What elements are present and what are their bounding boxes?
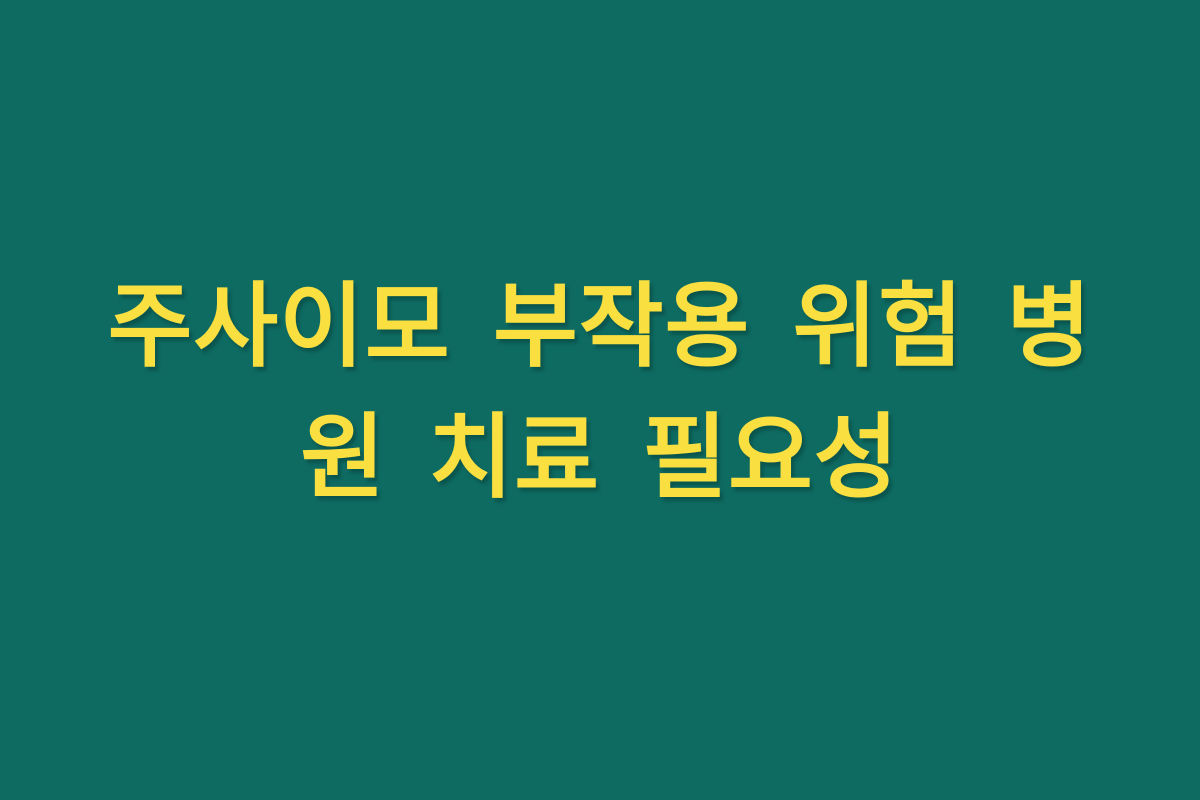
headline-text: 주사이모 부작용 위험 병원 치료 필요성 bbox=[80, 262, 1120, 523]
banner-background: 주사이모 부작용 위험 병원 치료 필요성 bbox=[0, 0, 1200, 800]
